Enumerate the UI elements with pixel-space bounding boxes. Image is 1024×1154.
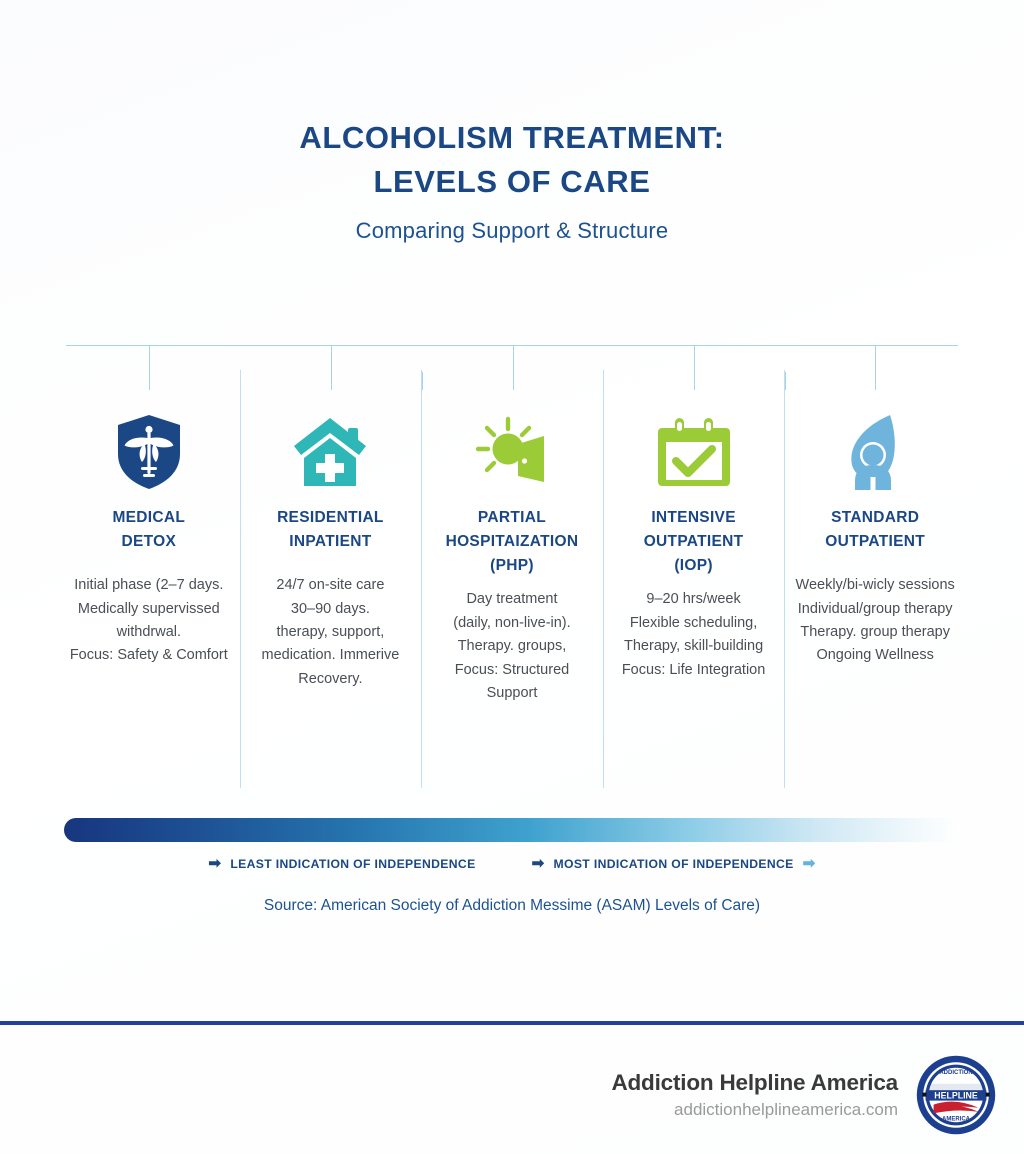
footer-divider: [0, 1021, 1024, 1025]
care-level-description: 24/7 on-site care 30–90 days. therapy, s…: [248, 574, 414, 691]
leaf-person-icon: [792, 404, 958, 500]
care-level-title-line: OUTPATIENT: [611, 530, 777, 554]
care-level-title-line: MEDICAL: [66, 506, 232, 530]
description-line: Therapy. groups,: [429, 635, 595, 658]
levels-of-care-columns: MEDICAL DETOX Initial phase (2–7 days. M…: [58, 404, 966, 705]
source-citation: Source: American Society of Addiction Me…: [0, 897, 1024, 915]
care-level-title-line: DETOX: [66, 530, 232, 554]
description-line: Initial phase (2–7 days.: [66, 574, 232, 597]
description-line: 24/7 on-site care: [248, 574, 414, 597]
page-subtitle: Comparing Support & Structure: [0, 218, 1024, 244]
care-level-title: INTENSIVE OUTPATIENT (IOP): [611, 506, 777, 578]
arrow-right-icon-light: ➡: [803, 856, 816, 871]
care-level-description: Day treatment (daily, non-live-in). Ther…: [429, 588, 595, 705]
axis-divider-tick-1: [149, 345, 150, 390]
sun-open-door-icon: [429, 404, 595, 500]
page-title-line-1: ALCOHOLISM TREATMENT:: [0, 116, 1024, 160]
care-level-description: Initial phase (2–7 days. Medically super…: [66, 574, 232, 668]
page-header: ALCOHOLISM TREATMENT: LEVELS OF CARE Com…: [0, 116, 1024, 244]
care-level-column-medical-detox: MEDICAL DETOX Initial phase (2–7 days. M…: [58, 404, 240, 705]
care-level-title: MEDICAL DETOX: [66, 506, 232, 554]
arrow-right-icon: ➡: [532, 856, 545, 871]
brand-name: Addiction Helpline America: [611, 1070, 898, 1096]
description-line: Day treatment: [429, 588, 595, 611]
care-level-title-line: STANDARD: [792, 506, 958, 530]
page-title-line-2: LEVELS OF CARE: [0, 160, 1024, 204]
care-level-title-line: HOSPITAIZATION: [429, 530, 595, 554]
care-level-title-line: INPATIENT: [248, 530, 414, 554]
care-level-description: Weekly/bi-wicly sessions Individual/grou…: [792, 574, 958, 668]
brand-website: addictionhelplineamerica.com: [611, 1100, 898, 1120]
description-line: Flexible scheduling,: [611, 612, 777, 635]
care-level-title-line: (IOP): [611, 554, 777, 578]
description-line: Medically supervissed: [66, 598, 232, 621]
care-level-column-residential-inpatient: RESIDENTIAL INPATIENT 24/7 on-site care …: [240, 404, 422, 705]
axis-rule: [66, 345, 958, 346]
description-line: Therapy, skill-building: [611, 635, 777, 658]
legend-label: MOST INDICATION OF INDEPENDENCE: [554, 857, 794, 871]
care-level-title-line: (PHP): [429, 554, 595, 578]
description-line: therapy, support,: [248, 621, 414, 644]
addiction-helpline-america-badge-logo: HELPLINE ADDICTION AMERICA: [916, 1055, 996, 1135]
care-level-column-standard-outpatient: STANDARD OUTPATIENT Weekly/bi-wicly sess…: [784, 404, 966, 705]
care-level-title-line: INTENSIVE: [611, 506, 777, 530]
description-line: Individual/group therapy: [792, 598, 958, 621]
care-level-column-partial-hospitalization: PARTIAL HOSPITAIZATION (PHP) Day treatme…: [421, 404, 603, 705]
axis-divider-tick-2: [331, 345, 332, 390]
legend-item-least-independence: ➡ LEAST INDICATION OF INDEPENDENCE: [208, 856, 475, 871]
infographic-canvas: ALCOHOLISM TREATMENT: LEVELS OF CARE Com…: [0, 0, 1024, 1154]
axis-divider-tick-4: [694, 345, 695, 390]
badge-bottom-text: AMERICA: [942, 1117, 971, 1123]
badge-center-text: HELPLINE: [934, 1091, 978, 1101]
care-level-title: RESIDENTIAL INPATIENT: [248, 506, 414, 554]
house-medical-cross-icon: [248, 404, 414, 500]
care-level-title-line: RESIDENTIAL: [248, 506, 414, 530]
footer-text-block: Addiction Helpline America addictionhelp…: [611, 1070, 898, 1120]
care-level-title-line: OUTPATIENT: [792, 530, 958, 554]
legend-item-most-independence: ➡ MOST INDICATION OF INDEPENDENCE ➡: [532, 856, 816, 871]
description-line: Therapy. group therapy: [792, 621, 958, 644]
description-line: medication. Immerive: [248, 644, 414, 667]
description-line: Recovery.: [248, 668, 414, 691]
axis-divider-tick-5: [875, 345, 876, 390]
description-line: withdrwal.: [66, 621, 232, 644]
description-line: Focus: Safety & Comfort: [66, 644, 232, 667]
axis-divider-tick-3: [513, 345, 514, 390]
description-line: Focus: Structured: [429, 659, 595, 682]
description-line: Ongoing Wellness: [792, 644, 958, 667]
spectrum-legend: ➡ LEAST INDICATION OF INDEPENDENCE ➡ MOS…: [64, 856, 960, 871]
badge-top-text: ADDICTION: [939, 1070, 972, 1076]
arrow-right-icon: ➡: [208, 856, 221, 871]
shield-caduceus-icon: [66, 404, 232, 500]
calendar-check-icon: [611, 404, 777, 500]
description-line: 30–90 days.: [248, 598, 414, 621]
description-line: 9–20 hrs/week: [611, 588, 777, 611]
description-line: Weekly/bi-wicly sessions: [792, 574, 958, 597]
care-level-title-line: PARTIAL: [429, 506, 595, 530]
care-level-column-intensive-outpatient: INTENSIVE OUTPATIENT (IOP) 9–20 hrs/week…: [603, 404, 785, 705]
description-line: (daily, non-live-in).: [429, 612, 595, 635]
legend-label: LEAST INDICATION OF INDEPENDENCE: [230, 857, 475, 871]
care-level-title: PARTIAL HOSPITAIZATION (PHP): [429, 506, 595, 578]
care-level-title: STANDARD OUTPATIENT: [792, 506, 958, 554]
independence-spectrum-bar: [64, 818, 960, 842]
page-footer: Addiction Helpline America addictionhelp…: [0, 1055, 1024, 1135]
care-level-description: 9–20 hrs/week Flexible scheduling, Thera…: [611, 588, 777, 682]
description-line: Focus: Life Integration: [611, 659, 777, 682]
description-line: Support: [429, 682, 595, 705]
